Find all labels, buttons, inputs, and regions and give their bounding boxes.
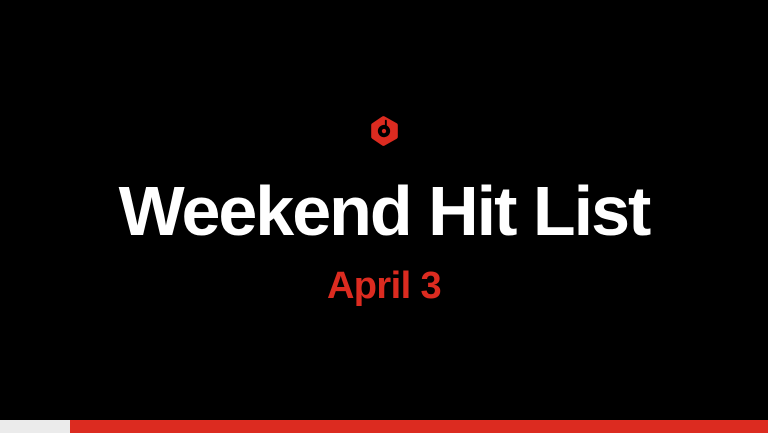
page-subtitle-date: April 3 <box>327 267 441 305</box>
progress-elapsed <box>0 420 70 433</box>
page-title: Weekend Hit List <box>119 176 650 246</box>
beats-logo-icon <box>371 116 398 146</box>
progress-remaining <box>70 420 768 433</box>
video-slide: Weekend Hit List April 3 <box>0 0 768 433</box>
playback-progress-bar[interactable] <box>0 420 768 433</box>
slide-content: Weekend Hit List April 3 <box>0 0 768 420</box>
